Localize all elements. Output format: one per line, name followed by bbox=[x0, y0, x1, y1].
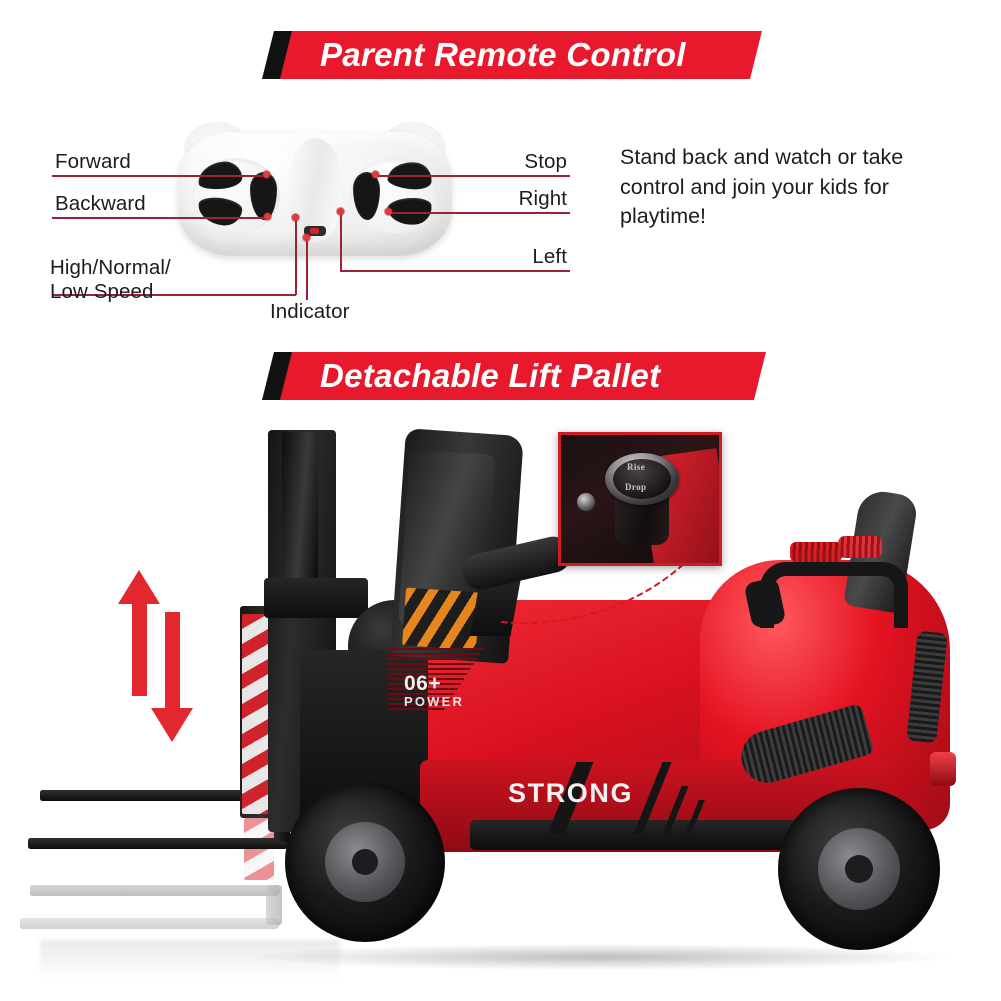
fork-tine-lower bbox=[28, 838, 290, 849]
taillight bbox=[930, 752, 956, 786]
leader-line-forward bbox=[52, 175, 267, 177]
remote-button-speed[interactable] bbox=[250, 172, 277, 220]
decal-power-word: POWER bbox=[404, 694, 464, 709]
rear-red-grip-2 bbox=[838, 536, 882, 558]
leader-dot-left bbox=[337, 208, 344, 215]
remote-button-backward[interactable] bbox=[197, 196, 244, 227]
lift-direction-arrows bbox=[110, 570, 200, 735]
label-indicator: Indicator bbox=[270, 300, 350, 324]
label-forward: Forward bbox=[55, 150, 131, 174]
label-speed-line2: Low Speed bbox=[50, 280, 153, 303]
description-paragraph: Stand back and watch or take control and… bbox=[620, 143, 960, 232]
fork-ghost-upper bbox=[30, 885, 280, 896]
banner2-title-text: Detachable Lift Pallet bbox=[320, 352, 660, 400]
banner-parent-remote-control: Parent Remote Control bbox=[262, 31, 740, 79]
fork-heel-ghost bbox=[266, 885, 282, 925]
label-left: Left bbox=[400, 245, 567, 269]
mast-top-bracket bbox=[264, 578, 368, 618]
leader-dot-backward bbox=[264, 213, 271, 220]
leader-line-left-vertical bbox=[340, 212, 342, 271]
label-speed-line1: High/Normal/ bbox=[50, 256, 171, 279]
leader-dot-speed bbox=[292, 214, 299, 221]
leader-line-stop bbox=[375, 175, 570, 177]
decal-brand-strong: STRONG bbox=[508, 778, 633, 809]
leader-line-speed-vertical bbox=[295, 218, 297, 295]
leader-dot-right bbox=[385, 208, 392, 215]
vehicle-side-sill bbox=[470, 820, 800, 850]
remote-button-left[interactable] bbox=[353, 172, 380, 220]
orange-stripe-decal bbox=[402, 587, 480, 650]
label-speed: High/Normal/ Low Speed bbox=[50, 256, 171, 304]
inset-knob-label-rise: Rise bbox=[627, 462, 645, 472]
rear-hub bbox=[845, 855, 873, 883]
label-stop: Stop bbox=[400, 150, 567, 174]
leader-line-backward bbox=[52, 217, 268, 219]
banner-title-text: Parent Remote Control bbox=[320, 31, 686, 79]
banner-detachable-lift-pallet: Detachable Lift Pallet bbox=[262, 352, 744, 400]
fork-ghost-lower bbox=[20, 918, 280, 929]
leader-dot-forward bbox=[263, 171, 270, 178]
rear-red-grip-1 bbox=[790, 542, 842, 562]
inset-knob-label-drop: Drop bbox=[625, 482, 646, 492]
leader-dot-stop bbox=[372, 171, 379, 178]
decal-power-number: 06+ bbox=[404, 672, 441, 696]
mast-inner-rail bbox=[282, 432, 318, 582]
ground-shadow bbox=[250, 944, 950, 970]
remote-left-button-pad[interactable] bbox=[192, 158, 280, 234]
leader-line-left bbox=[340, 270, 570, 272]
leader-line-right bbox=[388, 212, 570, 214]
inset-gear-knob-closeup: Rise Drop bbox=[558, 432, 722, 566]
leader-line-indicator bbox=[306, 238, 308, 300]
label-backward: Backward bbox=[55, 192, 146, 216]
label-right: Right bbox=[400, 187, 567, 211]
infographic-page: Parent Remote Control Forward Backward H… bbox=[0, 0, 1001, 1001]
front-hub bbox=[352, 849, 378, 875]
leader-dot-indicator bbox=[303, 234, 310, 241]
inset-bolt bbox=[577, 493, 595, 511]
